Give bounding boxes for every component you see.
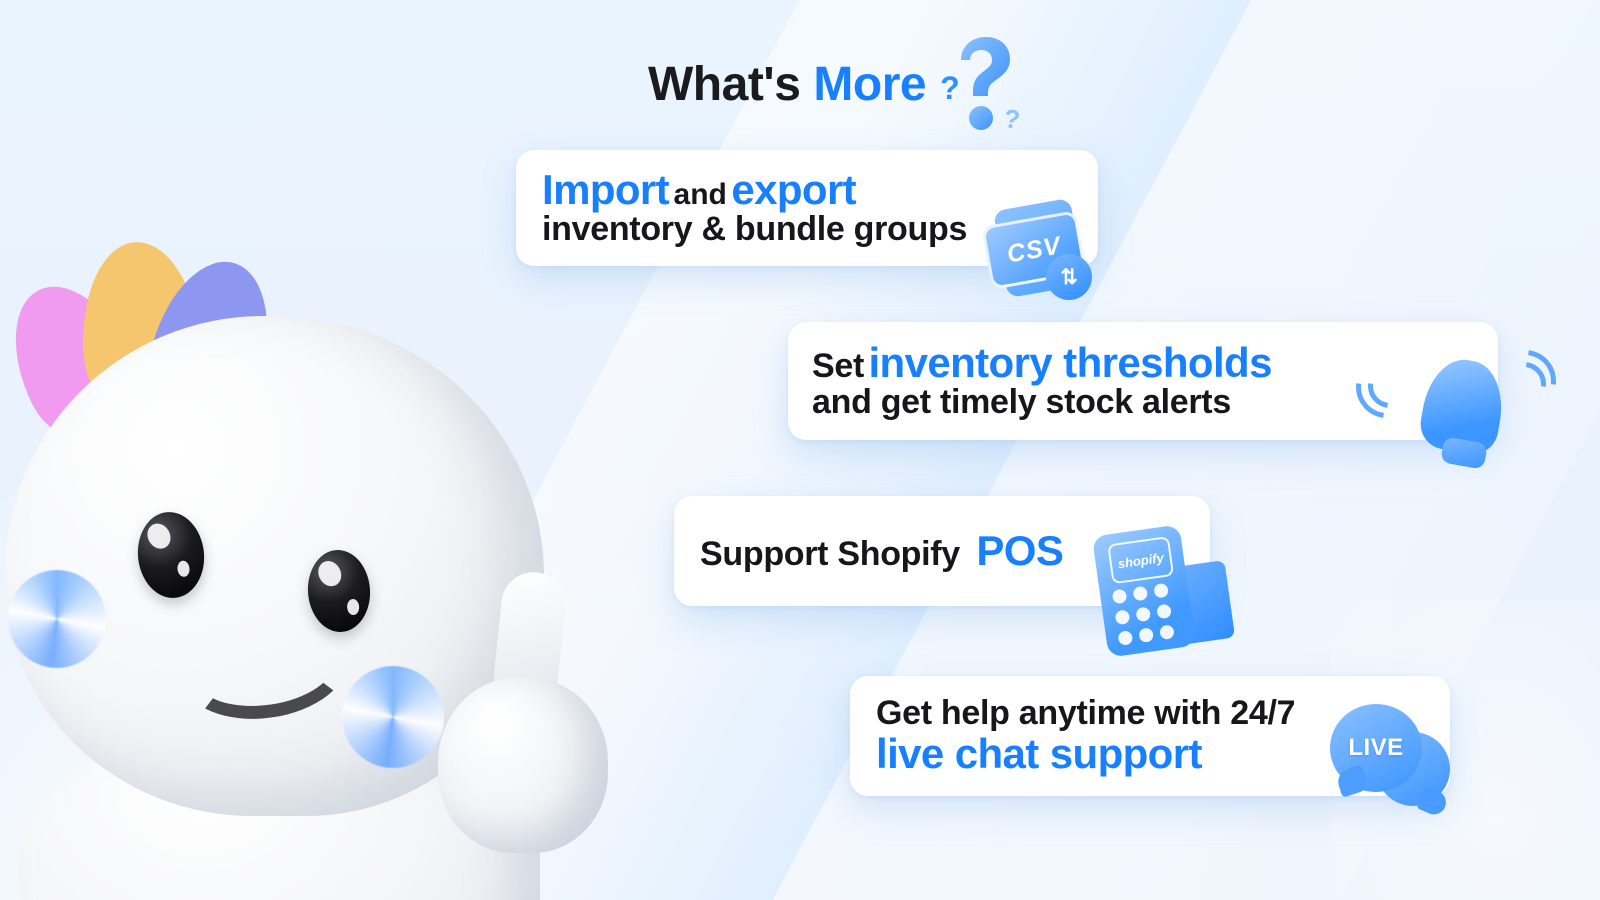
page-title-part2: More <box>813 61 926 109</box>
card3-text: Support Shopify <box>700 535 960 573</box>
pos-key <box>1112 589 1128 605</box>
card3-highlight: POS <box>976 527 1063 574</box>
blush-spiral-left-icon <box>8 570 106 668</box>
pos-key <box>1156 604 1172 620</box>
page-title: What's More ? ? <box>648 52 960 118</box>
pos-key <box>1115 609 1131 625</box>
csv-transfer-badge: ⇅ <box>1046 254 1092 300</box>
eye-highlight-small <box>177 560 191 577</box>
eye-highlight <box>143 519 175 553</box>
card1-and: and <box>674 178 727 211</box>
pos-device-body: shopify <box>1092 524 1196 657</box>
pos-key <box>1132 586 1148 602</box>
pos-screen-label: shopify <box>1117 550 1165 571</box>
card2-set: Set <box>812 347 864 385</box>
csv-file-icon: CSV ⇅ <box>982 192 1100 304</box>
promo-banner: What's More ? ? Import and export invent… <box>0 0 1600 900</box>
card2-highlight: inventory thresholds <box>868 339 1271 386</box>
question-mark-tiny-icon: ? <box>1002 103 1022 136</box>
pos-key <box>1135 606 1151 622</box>
page-title-part1: What's <box>648 61 800 109</box>
pos-screen: shopify <box>1107 536 1174 584</box>
pos-key <box>1159 624 1175 640</box>
blush-spiral-right-icon <box>342 666 444 768</box>
live-label: LIVE <box>1348 734 1403 762</box>
eye-highlight <box>314 557 346 590</box>
bell-alert-icon <box>1390 344 1540 474</box>
pos-terminal-icon: shopify <box>1090 518 1240 658</box>
chat-bubble-front: LIVE <box>1330 704 1422 792</box>
card1-export: export <box>731 166 856 213</box>
eye-highlight-small <box>347 599 360 616</box>
pos-key <box>1117 630 1133 646</box>
card1-import: Import <box>542 166 669 213</box>
pos-keypad <box>1112 582 1183 646</box>
live-chat-bubble-icon: LIVE <box>1322 698 1458 824</box>
pos-key <box>1153 583 1169 599</box>
pos-key <box>1138 627 1154 643</box>
mascot-hand <box>438 678 608 853</box>
